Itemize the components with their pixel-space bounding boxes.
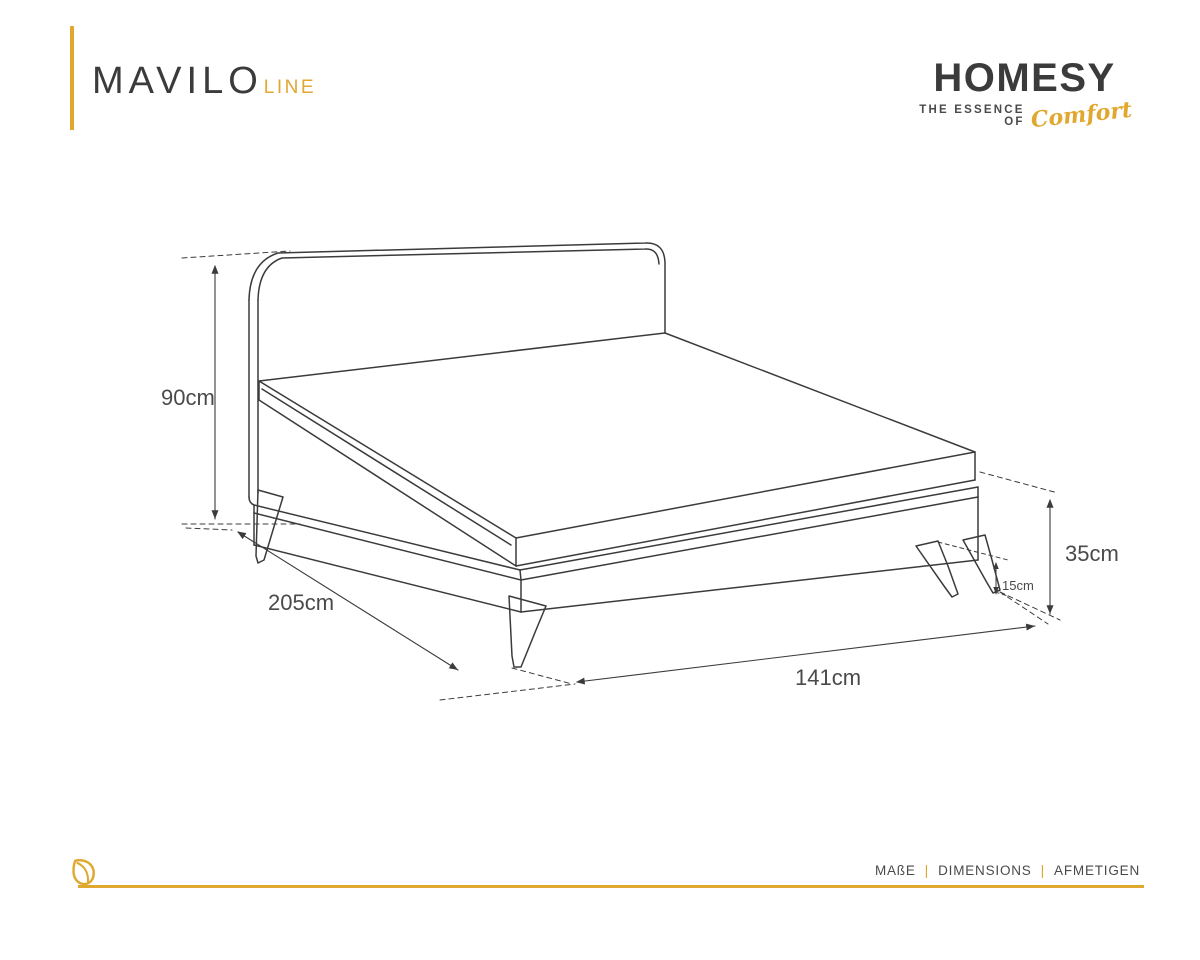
drawing-page: MAVILO LINE HOMESY THE ESSENCE OF Comfor…: [0, 0, 1200, 960]
leaf-icon: [68, 855, 104, 891]
footer-label-en: DIMENSIONS: [938, 863, 1032, 878]
footer-separator-1: |: [925, 862, 929, 878]
label-leg-height-15: 15cm: [1002, 578, 1034, 593]
footer-rule: [78, 885, 1144, 888]
footer-labels: MAßE | DIMENSIONS | AFMETIGEN: [875, 862, 1140, 878]
headboard-panel: [249, 243, 665, 505]
dimension-lines: [182, 251, 1060, 700]
label-length-205: 205cm: [268, 590, 334, 615]
base-box-body: [254, 497, 978, 612]
base-upper-band: [254, 487, 978, 580]
label-width-141: 141cm: [795, 665, 861, 690]
label-base-height-35: 35cm: [1065, 541, 1119, 566]
bed-dimension-drawing: 90cm 205cm 141cm 35cm 15cm: [0, 0, 1200, 960]
footer-separator-2: |: [1041, 862, 1045, 878]
footer-label-nl: AFMETIGEN: [1054, 863, 1140, 878]
dimension-base-height-35: [980, 472, 1060, 620]
label-height-90: 90cm: [161, 385, 215, 410]
mattress-top: [259, 333, 975, 545]
footer-label-de: MAßE: [875, 863, 916, 878]
mattress-front-face: [259, 381, 975, 566]
dimension-width-141: [512, 592, 1048, 684]
